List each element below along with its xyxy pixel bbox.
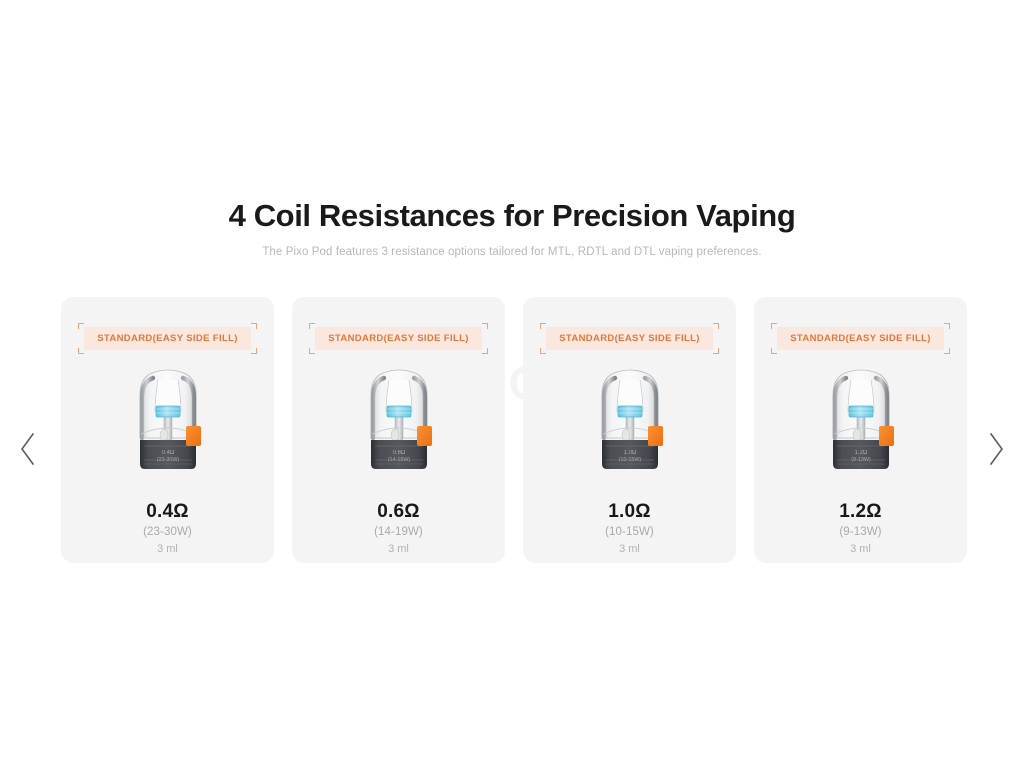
corner-bracket-bottom-left	[540, 348, 546, 354]
corner-bracket-top-left	[771, 323, 777, 329]
corner-bracket-top-right	[482, 323, 488, 329]
page-subtitle: The Pixo Pod features 3 resistance optio…	[0, 244, 1024, 260]
corner-bracket-bottom-left	[771, 348, 777, 354]
svg-text:0.4Ω: 0.4Ω	[161, 450, 174, 456]
badge-label: STANDARD(EASY SIDE FILL)	[84, 327, 251, 350]
coil-card-4[interactable]: STANDARD(EASY SIDE FILL)	[754, 297, 967, 563]
page-title: 4 Coil Resistances for Precision Vaping	[0, 196, 1024, 236]
corner-bracket-bottom-right	[944, 348, 950, 354]
corner-bracket-top-right	[713, 323, 719, 329]
corner-bracket-bottom-left	[78, 348, 84, 354]
spec-block: 0.6Ω (14-19W) 3 ml	[374, 500, 423, 557]
svg-text:(14-19W): (14-19W)	[387, 457, 410, 463]
corner-bracket-bottom-left	[309, 348, 315, 354]
capacity-value: 3 ml	[605, 541, 654, 557]
corner-bracket-top-left	[309, 323, 315, 329]
wattage-range: (10-15W)	[605, 524, 654, 541]
svg-text:(9-13W): (9-13W)	[851, 457, 871, 463]
corner-bracket-bottom-right	[482, 348, 488, 354]
wattage-range: (23-30W)	[143, 524, 192, 541]
badge-frame: STANDARD(EASY SIDE FILL)	[309, 323, 488, 354]
capacity-value: 3 ml	[839, 541, 881, 557]
svg-text:1.0Ω: 1.0Ω	[623, 450, 636, 456]
badge-frame: STANDARD(EASY SIDE FILL)	[78, 323, 257, 354]
spec-block: 0.4Ω (23-30W) 3 ml	[143, 500, 192, 557]
corner-bracket-top-left	[540, 323, 546, 329]
badge-frame: STANDARD(EASY SIDE FILL)	[540, 323, 719, 354]
carousel-track: STANDARD(EASY SIDE FILL)	[61, 297, 967, 563]
pod-illustration: 1.0Ω (10-15W)	[582, 364, 678, 486]
page-root: 4 Coil Resistances for Precision Vaping …	[0, 0, 1024, 768]
spec-block: 1.0Ω (10-15W) 3 ml	[605, 500, 654, 557]
resistance-value: 0.4Ω	[143, 500, 192, 524]
spec-block: 1.2Ω (9-13W) 3 ml	[839, 500, 881, 557]
corner-bracket-top-left	[78, 323, 84, 329]
svg-text:(23-30W): (23-30W)	[156, 457, 179, 463]
svg-text:0.6Ω: 0.6Ω	[392, 450, 405, 456]
carousel-next-button[interactable]	[980, 428, 1012, 470]
svg-text:1.2Ω: 1.2Ω	[854, 450, 867, 456]
corner-bracket-top-right	[944, 323, 950, 329]
pod-illustration: 0.4Ω (23-30W)	[120, 364, 216, 486]
badge-label: STANDARD(EASY SIDE FILL)	[546, 327, 713, 350]
coil-carousel: STANDARD(EASY SIDE FILL)	[61, 297, 967, 563]
badge-frame: STANDARD(EASY SIDE FILL)	[771, 323, 950, 354]
wattage-range: (9-13W)	[839, 524, 881, 541]
coil-card-2[interactable]: STANDARD(EASY SIDE FILL)	[292, 297, 505, 563]
svg-text:(10-15W): (10-15W)	[618, 457, 641, 463]
pod-illustration: 0.6Ω (14-19W)	[351, 364, 447, 486]
coil-card-1[interactable]: STANDARD(EASY SIDE FILL)	[61, 297, 274, 563]
resistance-value: 0.6Ω	[374, 500, 423, 524]
carousel-prev-button[interactable]	[12, 428, 44, 470]
badge-label: STANDARD(EASY SIDE FILL)	[315, 327, 482, 350]
section-heading: 4 Coil Resistances for Precision Vaping …	[0, 196, 1024, 260]
resistance-value: 1.2Ω	[839, 500, 881, 524]
badge-label: STANDARD(EASY SIDE FILL)	[777, 327, 944, 350]
coil-card-3[interactable]: STANDARD(EASY SIDE FILL)	[523, 297, 736, 563]
capacity-value: 3 ml	[374, 541, 423, 557]
chevron-right-icon	[986, 432, 1006, 466]
corner-bracket-bottom-right	[713, 348, 719, 354]
wattage-range: (14-19W)	[374, 524, 423, 541]
capacity-value: 3 ml	[143, 541, 192, 557]
corner-bracket-top-right	[251, 323, 257, 329]
resistance-value: 1.0Ω	[605, 500, 654, 524]
chevron-left-icon	[18, 432, 38, 466]
corner-bracket-bottom-right	[251, 348, 257, 354]
pod-illustration: 1.2Ω (9-13W)	[813, 364, 909, 486]
